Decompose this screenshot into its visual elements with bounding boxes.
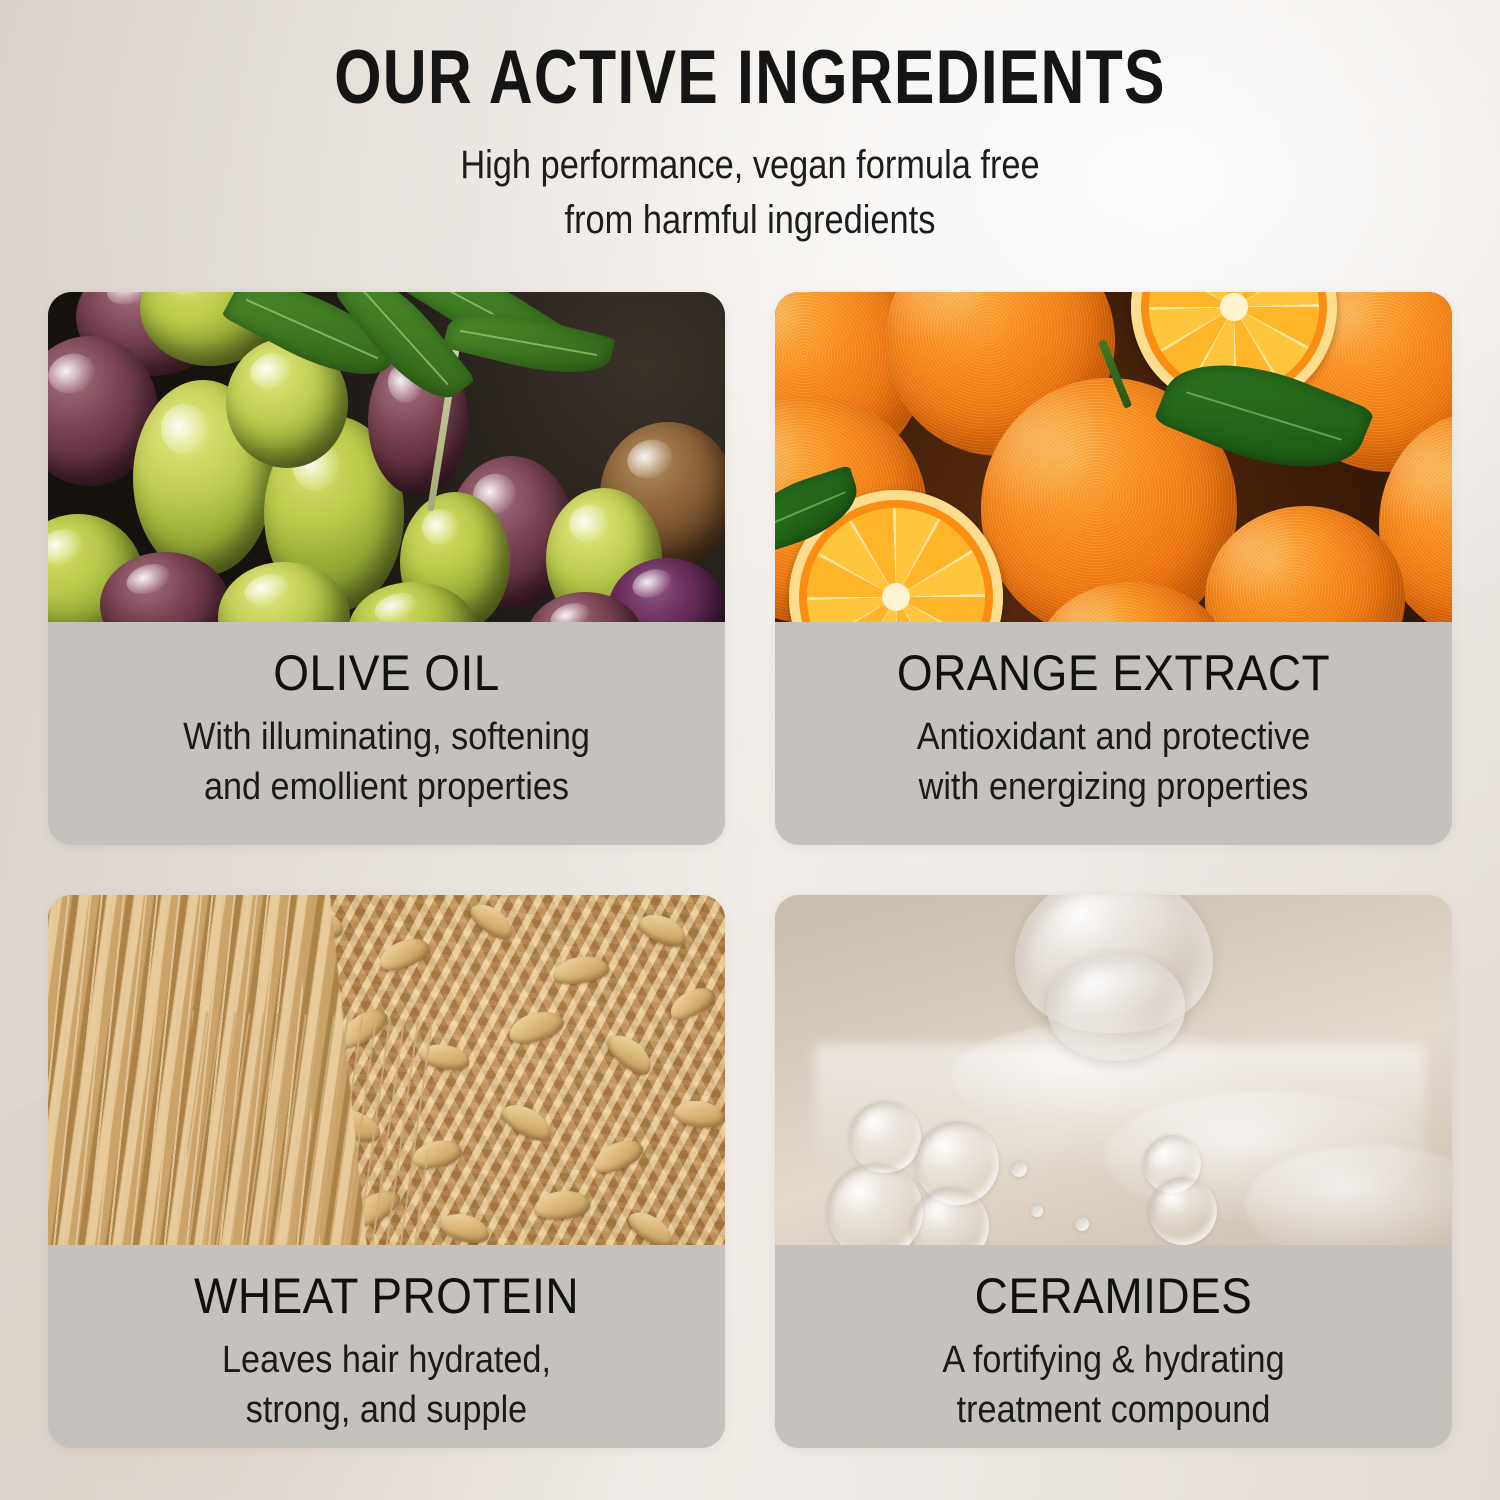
wheat-awns-secondary [184,1011,432,1245]
card-caption-olive-oil: OLIVE OIL With illuminating, softening a… [48,622,725,845]
card-description: Antioxidant and protective with energizi… [832,712,1395,812]
wheat-photo [48,895,725,1245]
subtitle-line-1: High performance, vegan formula free [105,138,1395,193]
card-caption-wheat-protein: WHEAT PROTEIN Leaves hair hydrated, stro… [48,1245,725,1448]
page-title: OUR ACTIVE INGREDIENTS [150,38,1350,118]
card-title: ORANGE EXTRACT [826,648,1401,698]
card-description: A fortifying & hydrating treatment compo… [832,1335,1395,1435]
ingredient-card-wheat-protein[interactable]: WHEAT PROTEIN Leaves hair hydrated, stro… [48,895,725,1448]
header: OUR ACTIVE INGREDIENTS High performance,… [0,38,1500,248]
card-caption-ceramides: CERAMIDES A fortifying & hydrating treat… [775,1245,1452,1448]
card-description: With illuminating, softening and emollie… [105,712,668,812]
card-description-line-1: A fortifying & hydrating [832,1335,1395,1385]
card-description-line-2: treatment compound [832,1385,1395,1435]
card-caption-orange-extract: ORANGE EXTRACT Antioxidant and protectiv… [775,622,1452,845]
card-title: CERAMIDES [826,1271,1401,1321]
ingredients-infographic: OUR ACTIVE INGREDIENTS High performance,… [0,0,1500,1500]
card-description-line-1: Leaves hair hydrated, [105,1335,668,1385]
card-description-line-1: With illuminating, softening [105,712,668,762]
ingredient-card-olive-oil[interactable]: OLIVE OIL With illuminating, softening a… [48,292,725,845]
card-description: Leaves hair hydrated, strong, and supple [105,1335,668,1435]
card-description-line-2: strong, and supple [105,1385,668,1435]
card-description-line-2: and emollient properties [105,762,668,812]
card-description-line-2: with energizing properties [832,762,1395,812]
card-title: WHEAT PROTEIN [99,1271,674,1321]
card-description-line-1: Antioxidant and protective [832,712,1395,762]
olives-photo [48,292,725,622]
card-title: OLIVE OIL [99,648,674,698]
ceramides-photo [775,895,1452,1245]
ingredient-card-orange-extract[interactable]: ORANGE EXTRACT Antioxidant and protectiv… [775,292,1452,845]
ingredient-card-ceramides[interactable]: CERAMIDES A fortifying & hydrating treat… [775,895,1452,1448]
oranges-photo [775,292,1452,622]
page-subtitle: High performance, vegan formula free fro… [105,138,1395,248]
subtitle-line-2: from harmful ingredients [105,193,1395,248]
ingredient-card-grid: OLIVE OIL With illuminating, softening a… [48,292,1452,1452]
